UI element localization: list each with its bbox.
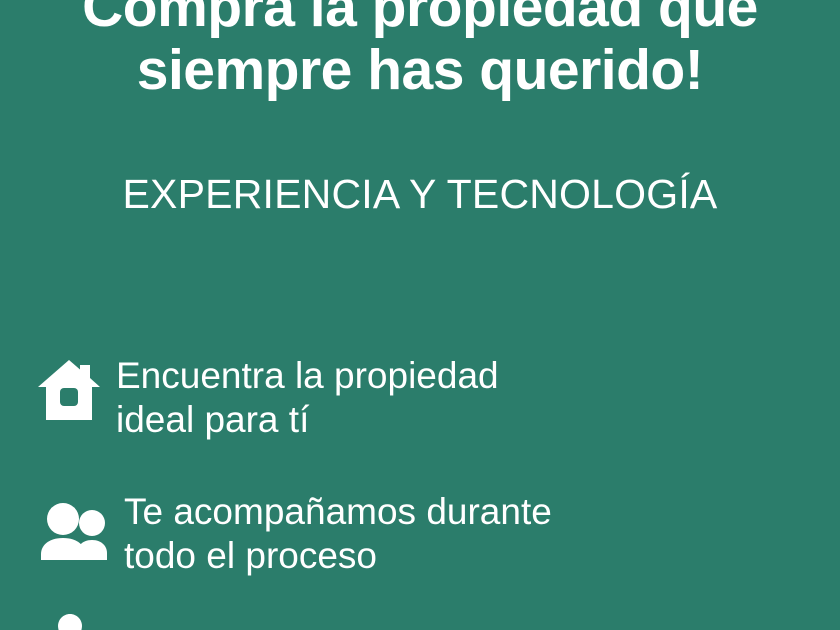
people-icon xyxy=(34,488,116,562)
benefit-item-clipped xyxy=(34,614,116,630)
benefit-item-accompany: Te acompañamos durante todo el proceso xyxy=(0,488,840,578)
benefit-text-find-property: Encuentra la propiedad ideal para tí xyxy=(116,352,840,442)
subtitle-block: EXPERIENCIA Y TECNOLOGÍA xyxy=(0,170,840,218)
benefits-list: Encuentra la propiedad ideal para tí Te … xyxy=(0,352,840,578)
benefit-line-2: ideal para tí xyxy=(116,398,840,442)
headline-block: Compra la propiedad que siempre has quer… xyxy=(0,0,840,102)
benefit-line-1: Te acompañamos durante xyxy=(124,490,840,534)
headline-line-2: siempre has querido! xyxy=(0,39,840,102)
benefit-text-accompany: Te acompañamos durante todo el proceso xyxy=(116,488,840,578)
benefit-line-2: todo el proceso xyxy=(124,534,840,578)
benefit-item-find-property: Encuentra la propiedad ideal para tí xyxy=(0,352,840,442)
subtitle: EXPERIENCIA Y TECNOLOGÍA xyxy=(0,170,840,218)
house-icon xyxy=(34,352,116,424)
promo-banner: Compra la propiedad que siempre has quer… xyxy=(0,0,840,630)
benefit-line-1: Encuentra la propiedad xyxy=(116,354,840,398)
pin-icon xyxy=(34,614,82,630)
headline-line-1: Compra la propiedad que xyxy=(0,0,840,39)
